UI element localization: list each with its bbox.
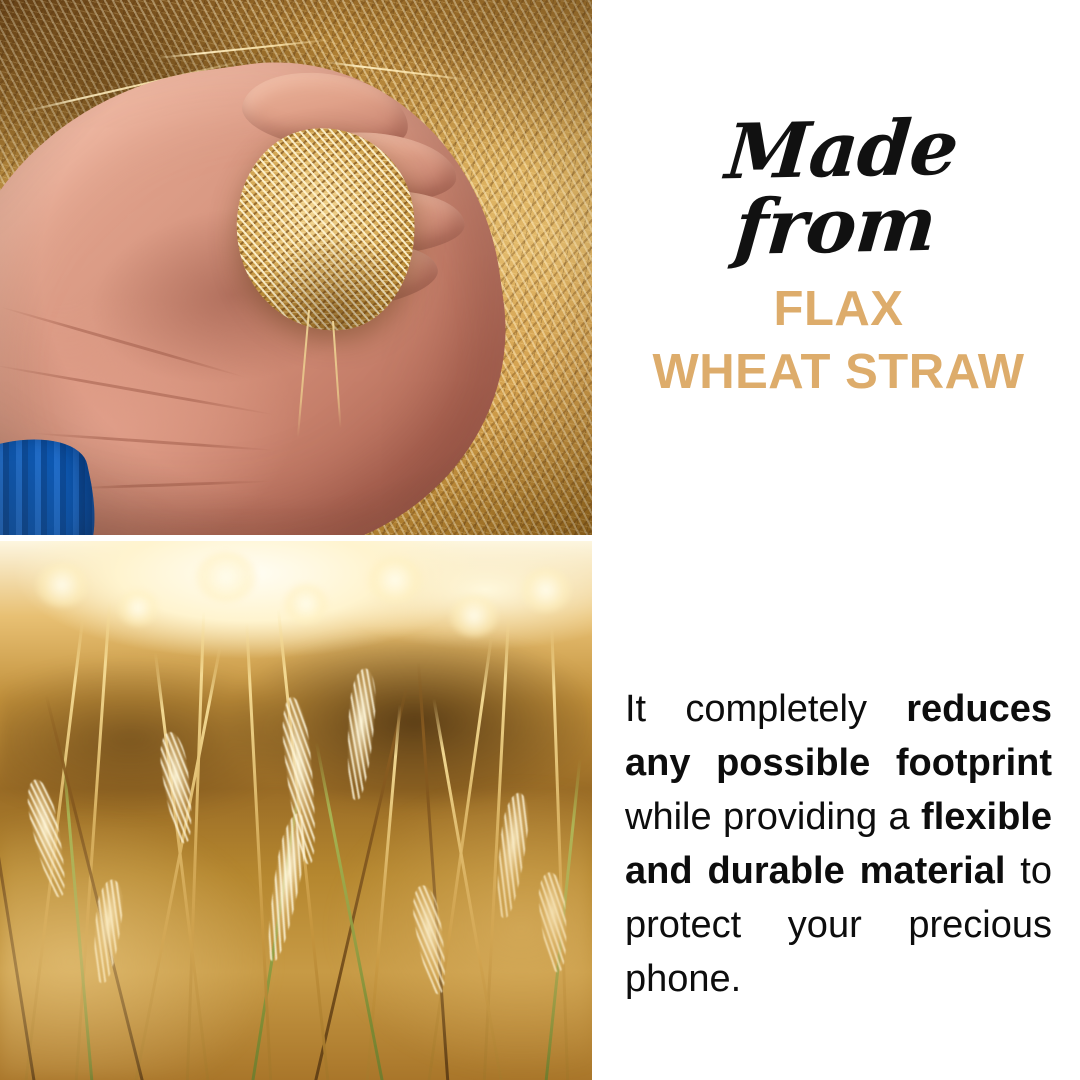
palm-crease [0,305,245,378]
palm-crease [70,479,270,489]
chaff-pile [227,120,425,341]
poster-canvas: Made from FLAX WHEAT STRAW It completely… [0,0,1080,1080]
material-line-flax: FLAX [625,278,1052,341]
bokeh-highlight [284,584,328,624]
material-list: FLAX WHEAT STRAW [625,278,1052,404]
bokeh-highlight [521,568,571,612]
palm-crease [0,363,277,416]
script-heading: Made from [618,108,1059,269]
body-paragraph: It completely reduces any possible footp… [625,682,1052,1006]
bokeh-highlight [367,557,423,603]
bokeh-highlight [118,590,158,626]
photo-column [0,0,592,1080]
photo-golden-grass-field-sunset [0,541,592,1080]
bokeh-highlight [195,552,257,602]
body-segment-plain: while providing a [625,796,921,838]
material-line-wheat-straw: WHEAT STRAW [625,341,1052,404]
bokeh-highlight [450,595,498,637]
text-column: Made from FLAX WHEAT STRAW It completely… [625,0,1052,1080]
photo-hand-holding-straw-chaff [0,0,592,535]
body-segment-plain: It completely [625,688,906,730]
bokeh-highlight [36,563,88,607]
